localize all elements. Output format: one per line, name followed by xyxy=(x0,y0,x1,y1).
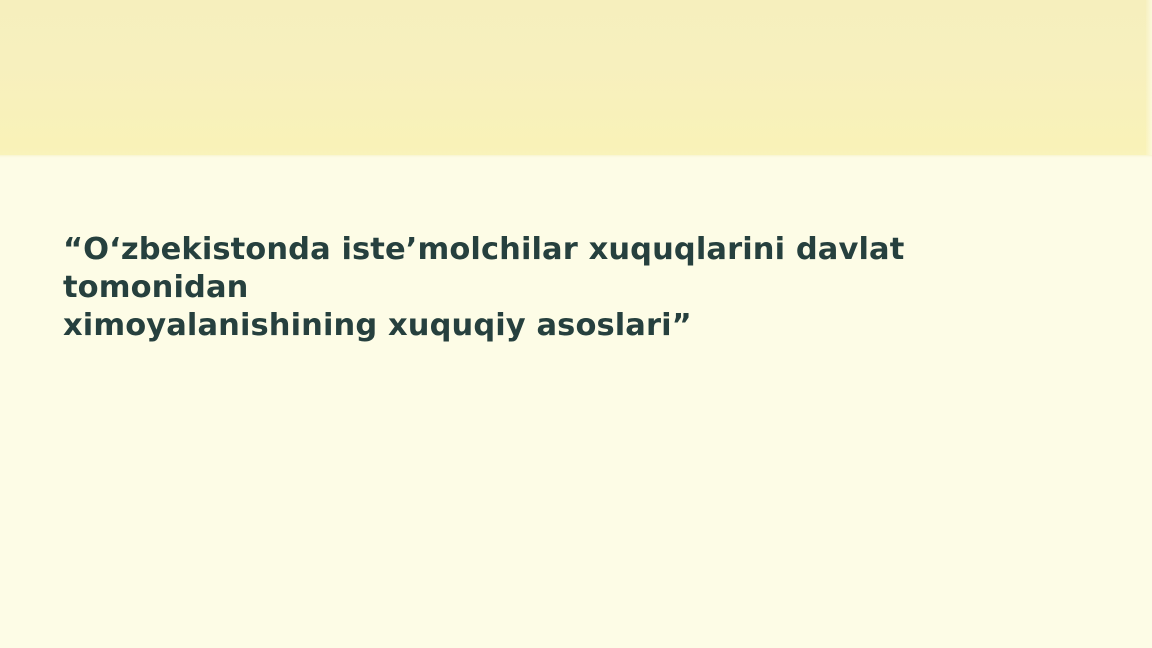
slide-title: “O‘zbekistonda iste’molchilar xuquqlarin… xyxy=(63,231,1043,345)
header-band-right-edge xyxy=(1146,0,1152,156)
title-block: “O‘zbekistonda iste’molchilar xuquqlarin… xyxy=(63,231,1043,345)
slide-body-placeholder xyxy=(63,330,1089,620)
header-band-divider xyxy=(0,155,1152,158)
slide-canvas: “O‘zbekistonda iste’molchilar xuquqlarin… xyxy=(0,0,1152,648)
header-decoration-band xyxy=(0,0,1152,156)
